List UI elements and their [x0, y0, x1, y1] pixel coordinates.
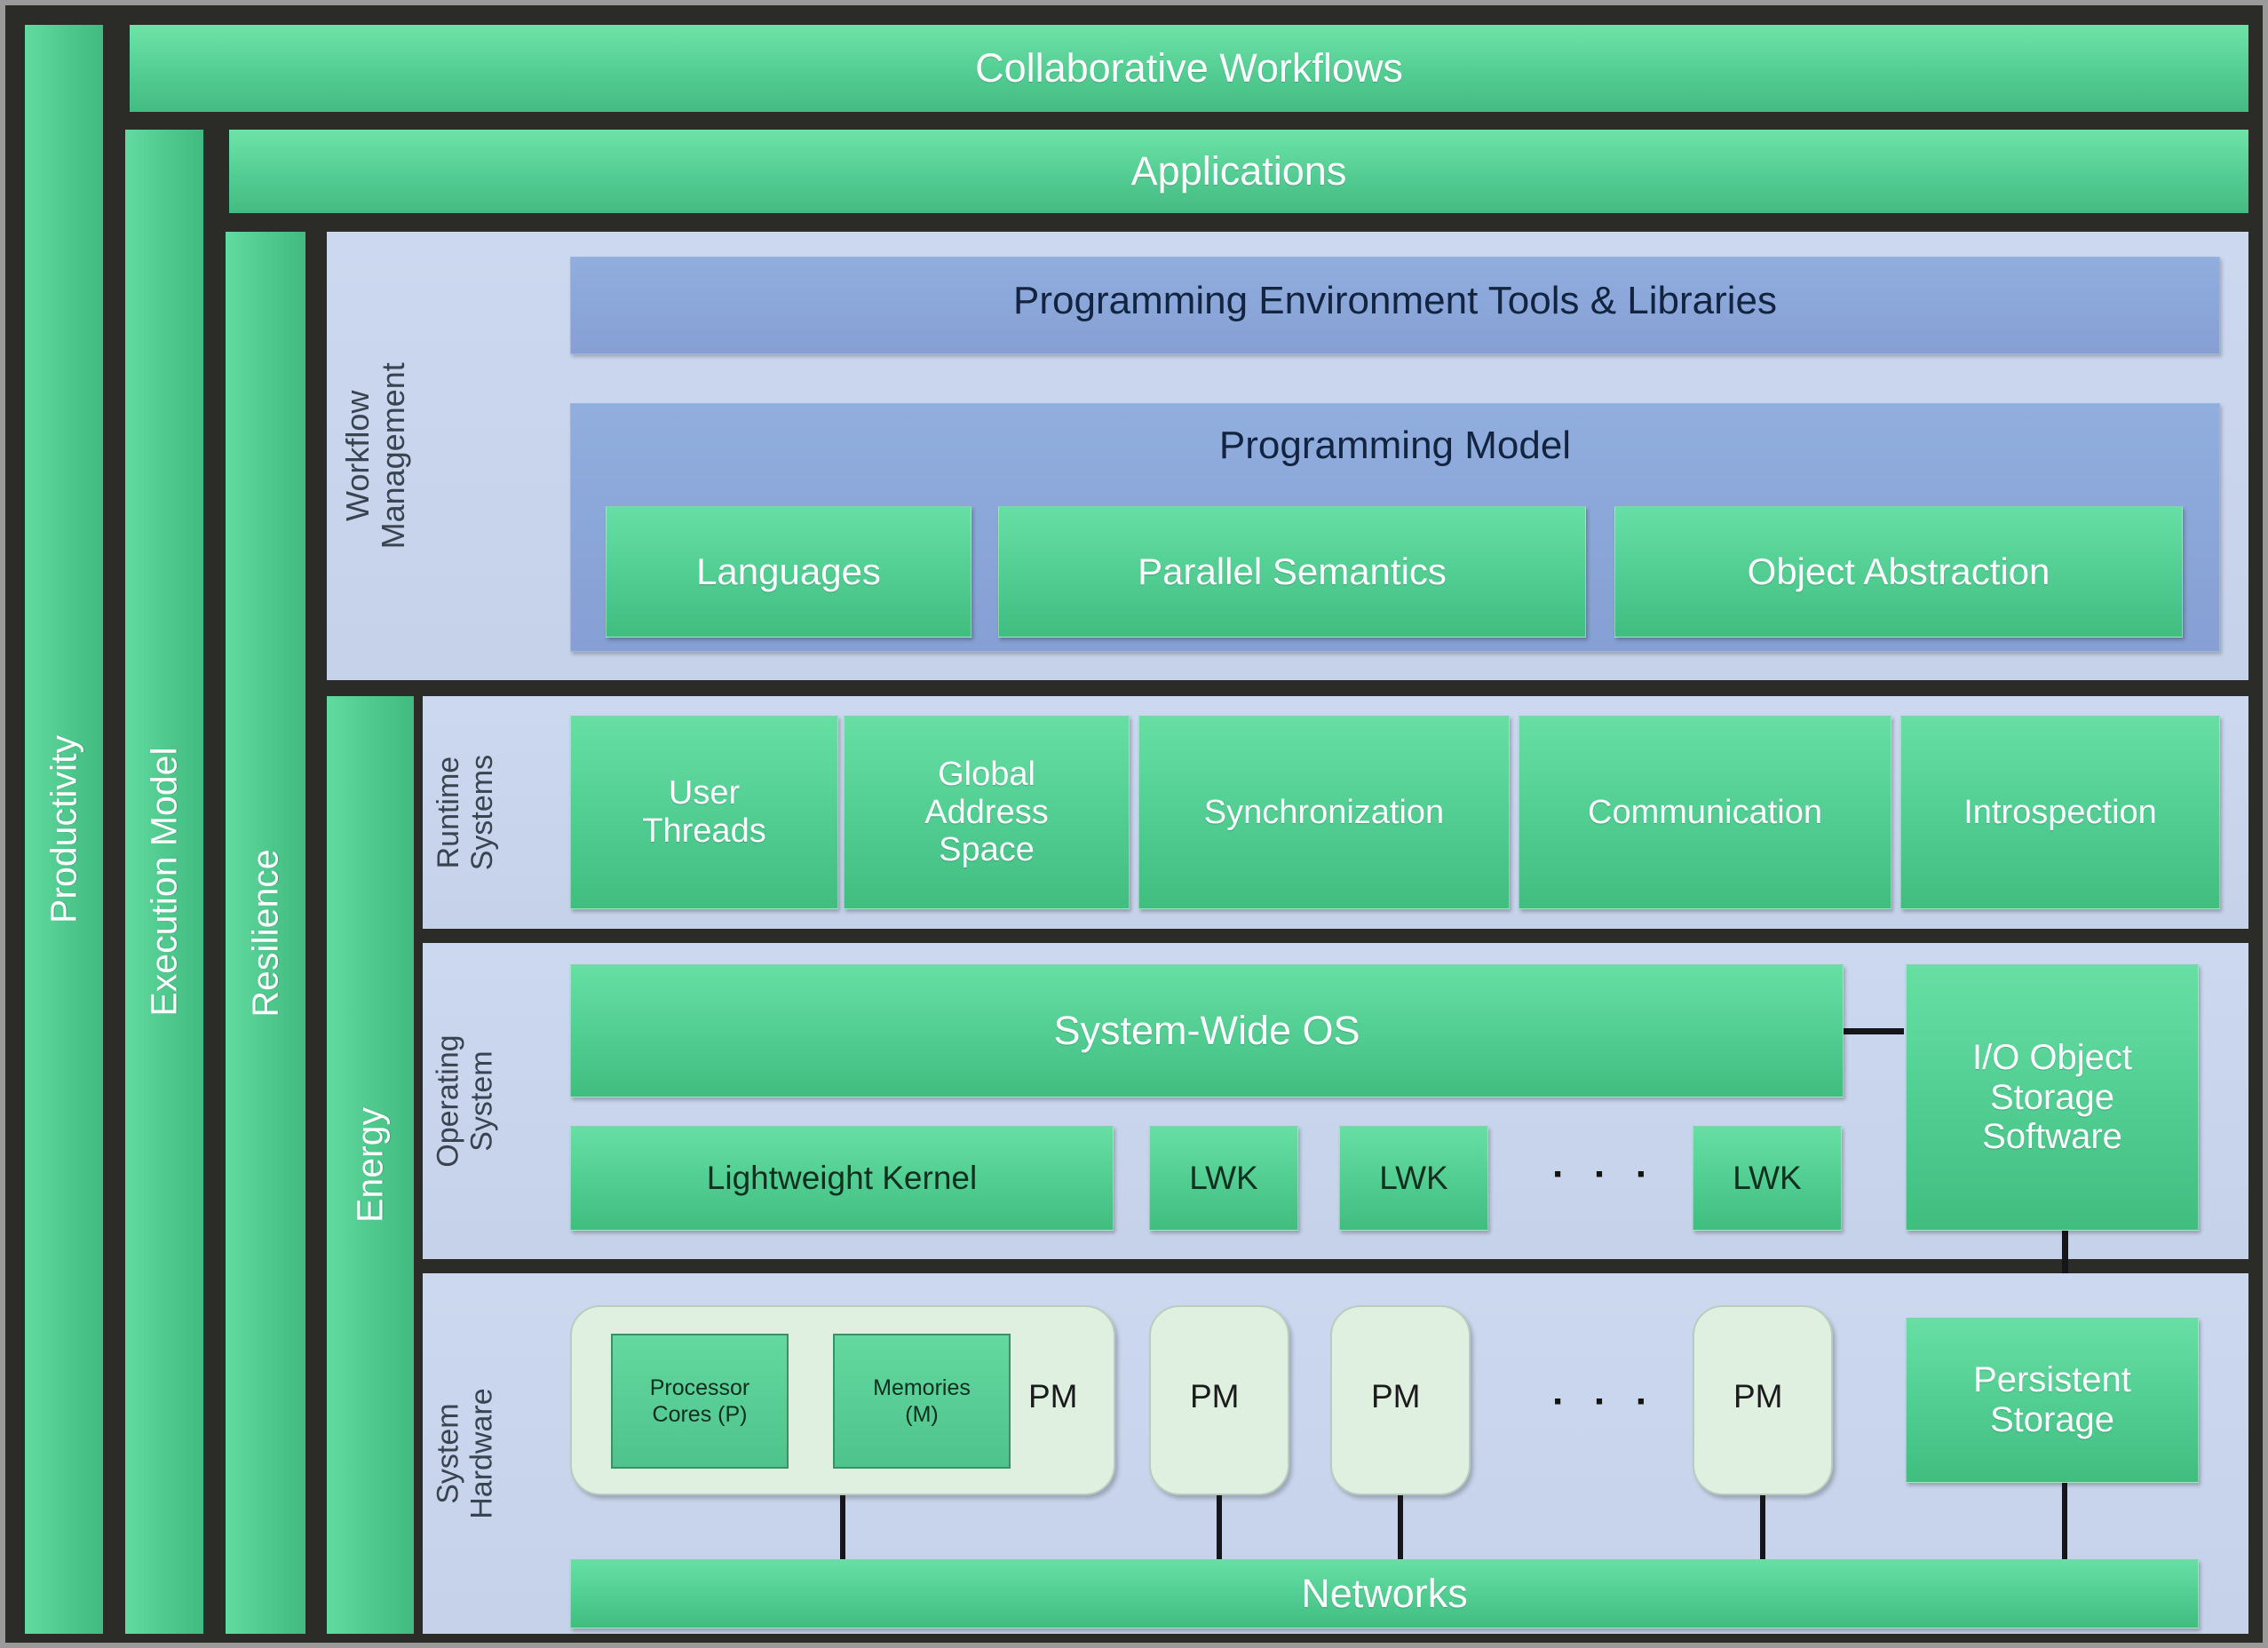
io-object-storage-software-box: I/O Object Storage Software: [1906, 964, 2199, 1231]
memories-line1: Memories: [873, 1375, 971, 1401]
object-abstraction-label: Object Abstraction: [1748, 551, 2050, 592]
connector-pm-0-to-networks: [840, 1495, 845, 1566]
system-wide-os-box: System-Wide OS: [570, 964, 1844, 1097]
persistent-storage-box: Persistent Storage: [1906, 1318, 2199, 1483]
global-address-space-line2: Address: [924, 794, 1048, 832]
os-label-line1: Operating: [432, 1034, 465, 1167]
architecture-diagram: Productivity Execution Model Resilience …: [0, 0, 2268, 1648]
runtime-label-line2: Systems: [465, 755, 499, 870]
networks-bar: Networks: [570, 1559, 2199, 1628]
hardware-label-line2: Hardware: [465, 1388, 499, 1518]
applications-bar: Applications: [229, 130, 2248, 213]
kernel-box-lwk-2: LWK: [1339, 1126, 1488, 1231]
operating-system-side-label: Operating System: [423, 943, 508, 1259]
connector-pm-2-to-networks: [1398, 1495, 1403, 1566]
communication-label: Communication: [1588, 794, 1822, 832]
lightweight-kernel-label: Lightweight Kernel: [707, 1160, 977, 1196]
kernel-box-lightweight-kernel: Lightweight Kernel: [570, 1126, 1114, 1231]
io-storage-line3: Software: [1982, 1117, 2122, 1157]
programming-model-component-parallel-semantics: Parallel Semantics: [998, 506, 1586, 638]
crosscut-label-resilience: Resilience: [245, 849, 287, 1017]
memories-line2: (M): [905, 1401, 938, 1428]
persistent-storage-line1: Persistent: [1973, 1360, 2131, 1400]
processor-cores-line2: Cores (P): [653, 1401, 748, 1428]
io-storage-line2: Storage: [1990, 1078, 2114, 1118]
system-hardware-side-label: System Hardware: [423, 1273, 508, 1634]
introspection-label: Introspection: [1963, 794, 2157, 832]
pm-node-1-label: PM: [1190, 1378, 1240, 1415]
runtime-component-communication: Communication: [1519, 716, 1891, 909]
memories-box: Memories (M): [833, 1334, 1011, 1469]
crosscut-label-productivity: Productivity: [44, 735, 85, 923]
io-storage-line1: I/O Object: [1972, 1038, 2132, 1078]
lwk-3-label: LWK: [1733, 1160, 1801, 1196]
synchronization-label: Synchronization: [1204, 794, 1444, 832]
runtime-component-global-address-space: Global Address Space: [844, 716, 1130, 909]
crosscut-label-energy: Energy: [350, 1107, 392, 1223]
programming-model-label: Programming Model: [1219, 424, 1571, 468]
pm-node-2-label: PM: [1371, 1378, 1421, 1415]
kernel-ellipsis: · · ·: [1552, 1153, 1657, 1197]
workflow-label-line1: Workflow: [339, 391, 376, 521]
kernel-box-lwk-3: LWK: [1693, 1126, 1842, 1231]
connector-persistent-storage-to-networks: [2062, 1483, 2067, 1568]
connector-pm-1-to-networks: [1217, 1495, 1222, 1566]
pm-node-ellipsis: · · ·: [1552, 1380, 1657, 1424]
processor-cores-line1: Processor: [650, 1375, 750, 1401]
kernel-box-lwk-1: LWK: [1149, 1126, 1298, 1231]
hardware-label-line1: System: [432, 1403, 465, 1503]
runtime-component-user-threads: User Threads: [570, 716, 838, 909]
crosscut-bar-productivity: Productivity: [25, 25, 103, 1634]
languages-label: Languages: [696, 551, 881, 592]
workflow-management-side-label: Workflow Management: [327, 232, 424, 680]
crosscut-bar-energy: Energy: [327, 696, 414, 1634]
applications-label: Applications: [1131, 148, 1347, 194]
workflow-label-line2: Management: [375, 362, 411, 549]
os-label-line2: System: [465, 1050, 499, 1151]
crosscut-label-execution-model: Execution Model: [144, 747, 186, 1016]
runtime-component-synchronization: Synchronization: [1138, 716, 1510, 909]
pm-node-3-label: PM: [1733, 1378, 1783, 1415]
runtime-systems-side-label: Runtime Systems: [423, 696, 508, 929]
programming-model-component-object-abstraction: Object Abstraction: [1614, 506, 2183, 638]
user-threads-line1: User: [669, 774, 740, 812]
programming-model-component-languages: Languages: [606, 506, 971, 638]
persistent-storage-line2: Storage: [1990, 1400, 2114, 1440]
parallel-semantics-label: Parallel Semantics: [1138, 551, 1447, 592]
user-threads-line2: Threads: [642, 812, 765, 851]
lwk-2-label: LWK: [1379, 1160, 1447, 1196]
lwk-1-label: LWK: [1189, 1160, 1257, 1196]
collaborative-workflows-bar: Collaborative Workflows: [130, 25, 2248, 112]
connector-pm-3-to-networks: [1760, 1495, 1765, 1566]
programming-environment-tools-label: Programming Environment Tools & Librarie…: [1013, 279, 1777, 323]
pm-node-0-label: PM: [1028, 1378, 1078, 1415]
networks-label: Networks: [1301, 1572, 1468, 1616]
crosscut-bar-resilience: Resilience: [226, 232, 305, 1634]
programming-environment-tools-box: Programming Environment Tools & Librarie…: [570, 257, 2220, 354]
connector-os-to-io-storage: [1844, 1028, 1904, 1034]
runtime-component-introspection: Introspection: [1900, 716, 2220, 909]
runtime-label-line1: Runtime: [432, 757, 465, 869]
processor-cores-box: Processor Cores (P): [611, 1334, 789, 1469]
global-address-space-line1: Global: [938, 756, 1035, 794]
collaborative-workflows-label: Collaborative Workflows: [975, 45, 1403, 91]
global-address-space-line3: Space: [939, 831, 1035, 869]
system-wide-os-label: System-Wide OS: [1053, 1009, 1360, 1053]
crosscut-bar-execution-model: Execution Model: [125, 130, 203, 1634]
